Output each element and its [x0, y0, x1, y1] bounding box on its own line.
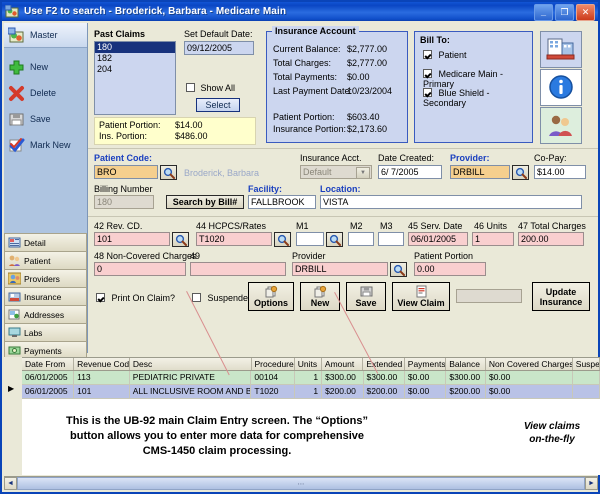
location-label: Location:	[320, 184, 361, 194]
default-date-input[interactable]: 09/12/2005	[184, 41, 254, 55]
bill-to-label-patient: Patient	[439, 50, 467, 60]
claim-patient-portion-label: Patient Portion	[414, 251, 473, 261]
show-all-checkbox[interactable]	[186, 83, 195, 92]
list-item[interactable]: 180	[95, 42, 175, 53]
sidebar-header-master[interactable]: Master	[4, 23, 87, 48]
annotation-note-line-2: on-the-fly	[502, 433, 600, 446]
grid-col-units[interactable]: Units	[295, 358, 322, 370]
cell-desc: ALL INCLUSIVE ROOM AND BOARD	[130, 385, 252, 398]
total-charges-value: $2,777.00	[347, 58, 387, 68]
cell-extended: $300.00	[364, 371, 405, 384]
sidebar-item-addresses[interactable]: Addresses	[4, 305, 87, 323]
sidebar-item-delete[interactable]: Delete	[4, 80, 87, 106]
sidebar-item-mark-new-label: Mark New	[30, 140, 71, 150]
claim-provider-input[interactable]: DRBILL	[292, 262, 388, 276]
sidebar-item-new-label: New	[30, 62, 48, 72]
insurance-acct-label: Insurance Acct.	[300, 153, 362, 163]
grid-col-procedure[interactable]: Procedure	[252, 358, 295, 370]
maximize-icon: ❐	[560, 8, 568, 17]
update-insurance-label-line2: Insurance	[540, 297, 583, 307]
sidebar-item-patient[interactable]: Patient	[4, 251, 87, 269]
facility-input[interactable]: FALLBROOK	[248, 195, 316, 209]
table-row[interactable]: 06/01/2005 101 ALL INCLUSIVE ROOM AND BO…	[22, 385, 600, 399]
annotation-text: This is the UB-92 main Claim Entry scree…	[52, 414, 382, 459]
magnifier-icon	[329, 234, 341, 246]
bill-to-label-secondary: Blue Shield - Secondary	[423, 88, 490, 108]
magnifier-icon	[393, 264, 405, 276]
new-button-label: New	[311, 298, 330, 308]
suspended-wrap[interactable]: Suspended	[192, 293, 253, 303]
scroll-left-arrow[interactable]: ◄	[4, 477, 17, 490]
horizontal-scrollbar[interactable]: ◄ ⋯ ►	[4, 476, 598, 490]
sidebar-item-save-label: Save	[30, 114, 51, 124]
labs-icon	[8, 326, 21, 339]
insurance-acct-value: Default	[303, 167, 332, 177]
annotation-line-3: CMS-1450 claim processing.	[52, 444, 382, 459]
magnifier-icon	[515, 167, 527, 179]
sidebar-item-labs-label: Labs	[24, 328, 42, 338]
units-label: 46 Units	[474, 221, 507, 231]
current-balance-value: $2,777.00	[347, 44, 387, 54]
new-button[interactable]: New	[300, 282, 340, 311]
cell-units: 1	[295, 385, 322, 398]
status-field	[456, 289, 522, 303]
sidebar-item-insurance-label: Insurance	[24, 292, 61, 302]
bill-to-title: Bill To:	[420, 35, 450, 45]
past-claims-label: Past Claims	[94, 29, 145, 39]
annotation-line-1: This is the UB-92 main Claim Entry scree…	[52, 414, 382, 429]
select-button-label: Select	[205, 100, 230, 110]
magnifier-icon	[277, 234, 289, 246]
bill-to-group: Bill To: Patient Medicare Main - Primary…	[414, 31, 533, 143]
sidebar-item-insurance[interactable]: Insurance	[4, 287, 87, 305]
grid-col-revenue-code[interactable]: Revenue Code	[74, 358, 130, 370]
hcpcs-label: 44 HCPCS/Rates	[196, 221, 266, 231]
cell-amount: $200.00	[322, 385, 363, 398]
ia-patient-portion-value: $603.40	[347, 112, 380, 122]
location-input[interactable]: VISTA	[320, 195, 582, 209]
ia-insurance-portion-value: $2,173.60	[347, 124, 387, 134]
magnifier-icon	[163, 167, 175, 179]
m2-label: M2	[350, 221, 363, 231]
total-charges-input[interactable]: 200.00	[518, 232, 584, 246]
title-bar: Use F2 to search - Broderick, Barbara - …	[2, 2, 598, 21]
ins-portion-label: Ins. Portion:	[99, 131, 147, 141]
search-by-bill-label: Search by Bill#	[173, 197, 238, 207]
cell-non-covered: $0.00	[486, 371, 573, 384]
field-49-input[interactable]	[190, 262, 286, 276]
provider-label: Provider:	[450, 153, 490, 163]
grid-col-non-covered[interactable]: Non Covered Charges	[486, 358, 573, 370]
date-created-label: Date Created:	[378, 153, 434, 163]
grid-col-desc[interactable]: Desc	[130, 358, 252, 370]
grid-col-suspended[interactable]: Susper	[573, 358, 600, 370]
ia-patient-portion-label: Patient Portion:	[273, 112, 335, 122]
cell-non-covered: $0.00	[486, 385, 573, 398]
scroll-right-arrow[interactable]: ►	[585, 477, 598, 490]
search-by-bill-button[interactable]: Search by Bill#	[166, 195, 244, 209]
copay-input[interactable]: $14.00	[534, 165, 586, 179]
total-charges-label: Total Charges:	[273, 58, 331, 68]
people-icon	[546, 112, 576, 140]
suspended-label: Suspended	[208, 293, 254, 303]
patient-icon	[8, 254, 21, 267]
annotation-line-2: button allows you to enter more data for…	[52, 429, 382, 444]
total-charges-field-label: 47 Total Charges	[518, 221, 586, 231]
print-on-claim-label: Print On Claim?	[112, 293, 176, 303]
total-payments-label: Total Payments:	[273, 72, 337, 82]
close-button[interactable]: ✕	[576, 4, 595, 21]
sidebar-item-patient-label: Patient	[24, 256, 50, 266]
providers-icon	[8, 272, 21, 285]
set-default-date-label: Set Default Date:	[184, 29, 253, 39]
date-created-input[interactable]: 6/ 7/2005 ▼	[378, 165, 442, 179]
m3-input[interactable]	[378, 232, 404, 246]
cell-units: 1	[295, 371, 322, 384]
cell-extended: $200.00	[364, 385, 405, 398]
minimize-button[interactable]: _	[534, 4, 553, 21]
units-input[interactable]: 1	[472, 232, 514, 246]
serv-date-label: 45 Serv. Date	[408, 221, 462, 231]
floppy-icon	[8, 111, 25, 128]
hcpcs-input[interactable]: T1020	[196, 232, 272, 246]
document-red-icon	[415, 285, 428, 298]
sidebar-header-label: Master	[30, 30, 58, 40]
bill-to-option-secondary[interactable]: Blue Shield - Secondary	[423, 88, 532, 108]
cell-balance: $300.00	[446, 371, 486, 384]
cell-suspended	[573, 371, 600, 384]
sidebar-item-save[interactable]: Save	[4, 106, 87, 132]
insurance-account-group: Insurance Account Current Balance: $2,77…	[266, 31, 408, 143]
master-icon	[8, 27, 25, 44]
cell-date-from: 06/01/2005	[22, 371, 74, 384]
bill-to-option-patient[interactable]: Patient	[423, 50, 467, 60]
ia-insurance-portion-label: Insurance Portion:	[273, 124, 346, 134]
grid-col-amount[interactable]: Amount	[322, 358, 363, 370]
annotation-overlay: This is the UB-92 main Claim Entry scree…	[22, 402, 600, 474]
copy-pages-icon	[314, 285, 327, 298]
provider-input[interactable]: DRBILL	[450, 165, 510, 179]
past-claims-list[interactable]: 180 182 204	[94, 41, 176, 115]
close-icon: ✕	[582, 8, 590, 17]
cell-procedure: T1020	[251, 385, 294, 398]
cell-suspended	[573, 385, 600, 398]
insurance-icon	[8, 290, 21, 303]
info-button[interactable]	[540, 69, 582, 106]
sidebar-item-new[interactable]: New	[4, 54, 87, 80]
magnifier-icon	[175, 234, 187, 246]
plus-green-icon	[8, 59, 25, 76]
provider-search-button[interactable]	[512, 165, 529, 180]
total-payments-value: $0.00	[347, 72, 370, 82]
application-window: Use F2 to search - Broderick, Barbara - …	[0, 0, 600, 494]
serv-date-input[interactable]: 06/01/2005	[408, 232, 468, 246]
show-all-checkbox-wrap[interactable]: Show All	[186, 83, 235, 93]
x-red-icon	[8, 85, 25, 102]
table-row[interactable]: 06/01/2005 113 PEDIATRIC PRIVATE 00104 1…	[22, 371, 600, 385]
sidebar-item-labs[interactable]: Labs	[4, 323, 87, 341]
patient-code-input[interactable]: BRO	[94, 165, 158, 179]
grid-col-payments[interactable]: Payments	[405, 358, 446, 370]
copay-label: Co-Pay:	[534, 153, 567, 163]
sidebar-item-providers[interactable]: Providers	[4, 269, 87, 287]
patient-portion-value: $14.00	[175, 120, 203, 130]
addresses-icon	[8, 308, 21, 321]
ins-portion-value: $486.00	[175, 131, 208, 141]
window-controls: _ ❐ ✕	[534, 4, 595, 21]
view-claim-button[interactable]: View Claim	[392, 282, 450, 311]
billing-number-input: 180	[94, 195, 154, 209]
date-created-value: 6/ 7/2005	[381, 167, 419, 177]
cell-desc: PEDIATRIC PRIVATE	[130, 371, 252, 384]
print-on-claim-wrap[interactable]: Print On Claim?	[96, 293, 175, 303]
sidebar-item-detail[interactable]: Detail	[4, 233, 87, 251]
options-button-label: Options	[254, 298, 288, 308]
bill-to-checkbox-primary[interactable]	[423, 69, 432, 78]
patient-name-readonly: Broderick, Barbara	[184, 168, 259, 178]
cell-balance: $200.00	[446, 385, 486, 398]
facility-button[interactable]	[540, 31, 582, 68]
facility-label: Facility:	[248, 184, 282, 194]
hcpcs-search-button[interactable]	[274, 232, 291, 247]
scrollbar-thumb[interactable]: ⋯	[17, 477, 585, 490]
rev-cd-search-button[interactable]	[172, 232, 189, 247]
grid-col-date-from[interactable]: Date From	[22, 358, 74, 370]
update-insurance-button[interactable]: Update Insurance	[532, 282, 590, 311]
people-button[interactable]	[540, 107, 582, 144]
window-title: Use F2 to search - Broderick, Barbara - …	[24, 6, 286, 17]
patient-code-search-button[interactable]	[160, 165, 177, 180]
bill-to-checkbox-secondary[interactable]	[423, 88, 432, 97]
patient-code-label: Patient Code:	[94, 153, 152, 163]
save-button-label: Save	[355, 298, 376, 308]
rev-cd-input[interactable]: 101	[94, 232, 170, 246]
scrollbar-track[interactable]: ⋯	[17, 477, 585, 490]
floppy-icon	[360, 285, 373, 298]
current-balance-label: Current Balance:	[273, 44, 341, 54]
last-payment-date-value: 10/23/2004	[347, 86, 392, 96]
view-claim-button-label: View Claim	[397, 298, 444, 308]
cell-procedure: 00104	[251, 371, 294, 384]
bill-to-checkbox-patient[interactable]	[423, 50, 432, 59]
grid-header-row: Date From Revenue Code Desc Procedure Un…	[22, 358, 600, 371]
bill-to-label-primary: Medicare Main - Primary	[423, 69, 503, 89]
sidebar-item-detail-label: Detail	[24, 238, 46, 248]
chevron-down-icon[interactable]: ▼	[356, 167, 370, 179]
m1-label: M1	[296, 221, 309, 231]
cell-revenue-code: 101	[74, 385, 130, 398]
patient-portion-label: Patient Portion:	[99, 120, 161, 130]
update-insurance-label-line1: Update	[546, 287, 577, 297]
non-covered-input[interactable]: 0	[94, 262, 186, 276]
m1-input[interactable]	[296, 232, 324, 246]
sidebar-item-payments-label: Payments	[24, 346, 62, 356]
main-panel: Past Claims 180 182 204 Set Default Date…	[88, 23, 598, 353]
billing-number-label: Billing Number	[94, 184, 153, 194]
grid-row-gutter: ▶	[2, 357, 23, 474]
non-covered-label: 48 Non-Covered Charges	[94, 251, 197, 261]
check-blue-icon	[8, 137, 25, 154]
select-button[interactable]: Select	[196, 98, 240, 112]
copy-pages-icon	[265, 285, 278, 298]
bill-to-option-primary[interactable]: Medicare Main - Primary	[423, 69, 532, 89]
print-on-claim-checkbox[interactable]	[96, 293, 105, 302]
list-item[interactable]: 182	[95, 53, 175, 64]
rev-cd-label: 42 Rev. CD.	[94, 221, 142, 231]
m1-search-button[interactable]	[326, 232, 343, 247]
options-button[interactable]: Options	[248, 282, 294, 311]
last-payment-date-label: Last Payment Date:	[273, 86, 352, 96]
minimize-icon: _	[541, 8, 546, 17]
annotation-note-line-1: View claims	[502, 420, 600, 433]
grid-row-marker: ▶	[8, 384, 14, 393]
claim-provider-search-button[interactable]	[390, 262, 407, 277]
sidebar-item-providers-label: Providers	[24, 274, 60, 284]
field-49-label: 49	[190, 251, 200, 261]
cell-date-from: 06/01/2005	[22, 385, 74, 398]
show-all-label: Show All	[201, 83, 236, 93]
save-button[interactable]: Save	[346, 282, 386, 311]
sidebar-tabs: Detail Patient P	[4, 233, 87, 360]
cell-revenue-code: 113	[74, 371, 130, 384]
m3-label: M3	[380, 221, 393, 231]
list-item[interactable]: 204	[95, 64, 175, 75]
cell-payments: $0.00	[405, 371, 446, 384]
cell-amount: $300.00	[322, 371, 363, 384]
maximize-button[interactable]: ❐	[555, 4, 574, 21]
detail-icon	[8, 236, 21, 249]
suspended-checkbox[interactable]	[192, 293, 201, 302]
sidebar-item-mark-new[interactable]: Mark New	[4, 132, 87, 158]
info-icon	[548, 74, 574, 102]
payments-icon	[8, 344, 21, 357]
sidebar-item-addresses-label: Addresses	[24, 310, 64, 320]
sidebar-item-delete-label: Delete	[30, 88, 56, 98]
grid-col-balance[interactable]: Balance	[446, 358, 486, 370]
app-icon	[5, 5, 20, 19]
portions-box: Patient Portion: $14.00 Ins. Portion: $4…	[94, 117, 256, 145]
insurance-account-title: Insurance Account	[272, 26, 359, 36]
claim-provider-label: Provider	[292, 251, 326, 261]
insurance-acct-select[interactable]: Default ▼	[300, 165, 372, 179]
facility-building-icon	[546, 36, 576, 64]
m2-input[interactable]	[348, 232, 374, 246]
claim-patient-portion-input[interactable]: 0.00	[414, 262, 486, 276]
annotation-note: View claims on-the-fly	[502, 420, 600, 446]
cell-payments: $0.00	[405, 385, 446, 398]
